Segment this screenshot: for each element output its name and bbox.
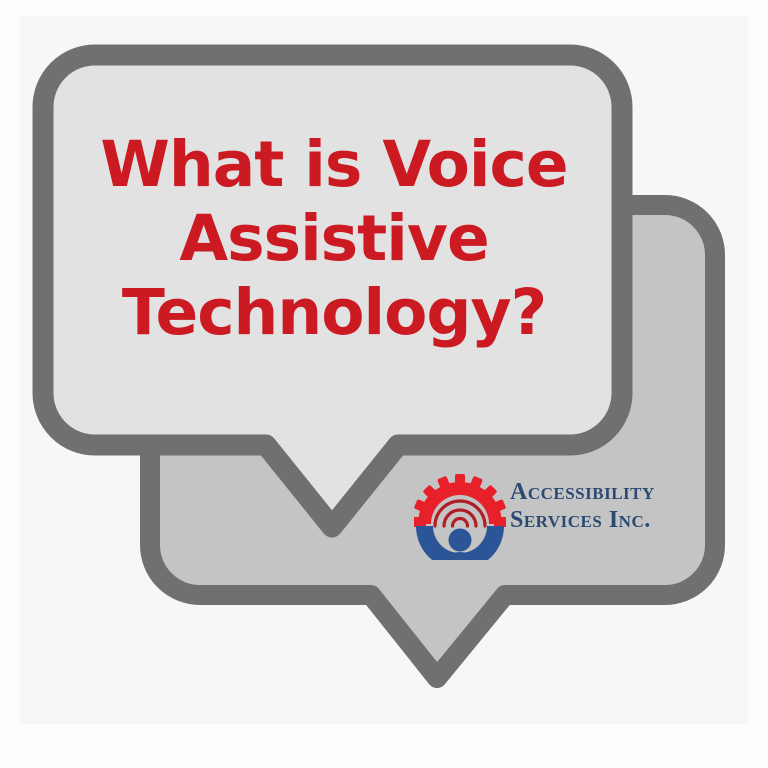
person-figure-icon <box>416 526 504 560</box>
artwork-layer <box>0 0 768 768</box>
logo-wordmark-line-2: Services Inc. <box>510 506 690 534</box>
headline-line-1: What is Voice <box>70 128 598 202</box>
logo-wordmark-line-1: Accessibility <box>510 478 690 506</box>
headline: What is Voice Assistive Technology? <box>70 128 598 350</box>
sound-wave-arcs-icon <box>435 501 485 526</box>
headline-line-3: Technology? <box>70 276 598 350</box>
poster-canvas: What is Voice Assistive Technology? <box>0 0 768 768</box>
headline-line-2: Assistive <box>70 202 598 276</box>
logo-wordmark: Accessibility Services Inc. <box>510 478 690 534</box>
accessibility-services-logo-icon <box>414 470 506 560</box>
logo: Accessibility Services Inc. <box>414 470 684 560</box>
